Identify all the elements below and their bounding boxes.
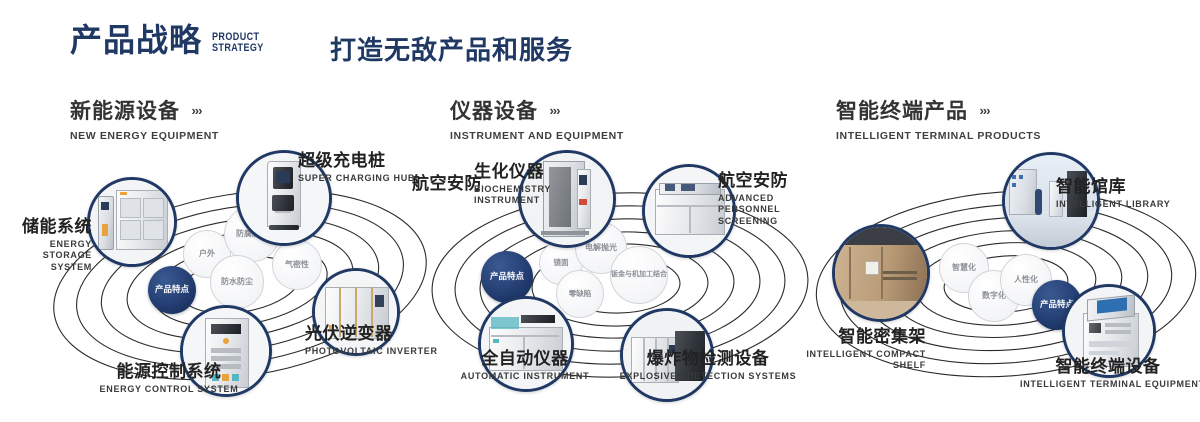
page-title-en-line2: STRATEGY	[212, 43, 264, 54]
section-heading-intelligent-terminal: 智能终端产品 ››› INTELLIGENT TERMINAL PRODUCTS	[836, 95, 1041, 142]
center-bubble-product-features: 产品特点	[148, 266, 196, 314]
page-title-cn: 产品战略	[70, 24, 202, 56]
section-heading-cn: 新能源设备	[70, 95, 180, 125]
label-super-charging-hub: 超级充电桩 SUPER CHARGING HUB	[298, 152, 415, 184]
page-title-en: PRODUCT STRATEGY	[212, 32, 264, 54]
node-intelligent-compact-shelf[interactable]	[832, 224, 930, 322]
section-heading-instrument: 仪器设备 ››› INSTRUMENT AND EQUIPMENT	[450, 95, 624, 142]
section-heading-en: INTELLIGENT TERMINAL PRODUCTS	[836, 130, 1041, 142]
energy-storage-photo	[90, 180, 174, 264]
section-heading-new-energy: 新能源设备 ››› NEW ENERGY EQUIPMENT	[70, 95, 219, 142]
label-energy-control-system: 能源控制系统 ENERGY CONTROL SYSTEM	[74, 363, 264, 395]
label-automatic-instrument: 全自动仪器 AUTOMATIC INSTRUMENT	[435, 350, 615, 382]
label-biochemistry-instrument: 生化仪器 BIOCHEMISTRY INSTRUMENT	[474, 163, 550, 207]
label-aviation-security-left: 航空安防	[412, 175, 482, 194]
section-heading-en: INSTRUMENT AND EQUIPMENT	[450, 130, 624, 142]
section-heading-en: NEW ENERGY EQUIPMENT	[70, 130, 219, 142]
chevron-right-icon: ›››	[549, 103, 559, 118]
label-photovoltaic-inverter: 光伏逆变器 PHOTOVOLTAIC INVERTER	[305, 325, 438, 357]
page-title-block: 产品战略 PRODUCT STRATEGY	[70, 24, 275, 56]
node-energy-storage-system[interactable]	[87, 177, 177, 267]
label-energy-storage-system: 储能系统 ENERGY STORAGE SYSTEM	[0, 218, 92, 273]
section-heading-cn: 智能终端产品	[836, 95, 968, 125]
label-intelligent-terminal-equipment: 智能终端设备 INTELLIGENT TERMINAL EQUIPMENT	[1020, 358, 1196, 390]
label-intelligent-compact-shelf: 智能密集架 INTELLIGENT COMPACT SHELF	[790, 328, 926, 372]
label-explosives-detection-system: 爆炸物检测设备 EXPLOSIVES DETECTION SYSTEMS	[615, 350, 801, 382]
product-strategy-infographic: 产品战略 PRODUCT STRATEGY 打造无敌产品和服务 新能源设备 ››…	[0, 0, 1200, 422]
chevron-right-icon: ›››	[191, 103, 201, 118]
feature-bubble: 防水防尘	[210, 255, 264, 309]
page-subtitle: 打造无敌产品和服务	[330, 30, 573, 67]
compact-shelf-photo	[835, 227, 927, 319]
label-intelligent-library: 智能馆库 INTELLIGENT LIBRARY	[1056, 178, 1170, 210]
label-advanced-personnel-screening: 航空安防 ADVANCED PERSONNEL SCREENING	[718, 172, 814, 227]
section-heading-cn: 仪器设备	[450, 95, 538, 125]
chevron-right-icon: ›››	[979, 103, 989, 118]
